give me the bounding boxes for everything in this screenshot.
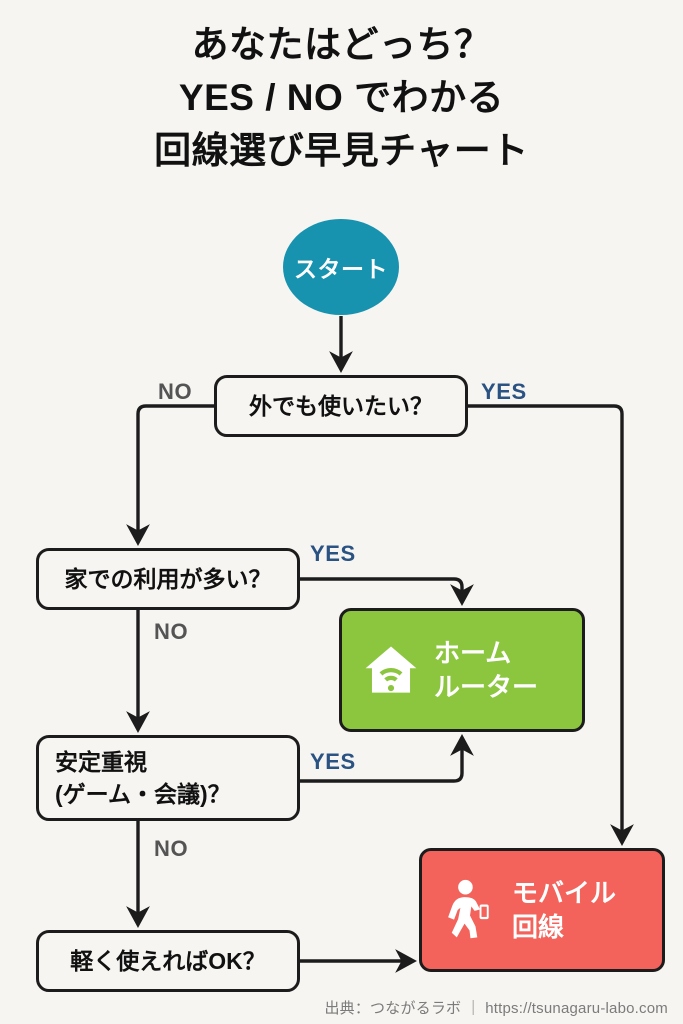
result-mobile-line-text: モバイル 回線: [512, 876, 616, 944]
branch-label-outdoor-no: NO: [158, 379, 192, 405]
decision-light-usage[interactable]: 軽く使えればOK？: [36, 930, 300, 992]
decision-stability-label-line-1: 安定重視: [55, 746, 285, 778]
decision-outdoor-label: 外でも使いたい？: [249, 390, 433, 422]
start-node-label: スタート: [294, 250, 388, 284]
decision-stability[interactable]: 安定重視 (ゲーム・会議)？: [36, 735, 300, 821]
decision-light-usage-label: 軽く使えればOK？: [70, 945, 266, 977]
result-home-router-line-2: ルーター: [434, 670, 538, 704]
result-home-router[interactable]: ホーム ルーター: [339, 608, 585, 732]
branch-label-stability-yes: YES: [310, 749, 356, 775]
branch-label-home-no: NO: [154, 619, 188, 645]
house-wifi-icon: [362, 641, 420, 699]
flowchart-poster: あなたはどっち？ YES / NO でわかる 回線選び早見チャート: [0, 0, 683, 1024]
result-home-router-text: ホーム ルーター: [434, 636, 538, 704]
result-mobile-line[interactable]: モバイル 回線: [419, 848, 665, 972]
branch-label-home-yes: YES: [310, 541, 356, 567]
edge-home-yes-to-router: [300, 579, 462, 602]
branch-label-stability-no: NO: [154, 836, 188, 862]
branch-label-outdoor-yes: YES: [481, 379, 527, 405]
walking-person-phone-icon: [442, 879, 498, 941]
start-node[interactable]: スタート: [283, 219, 399, 315]
decision-outdoor[interactable]: 外でも使いたい？: [214, 375, 468, 437]
result-home-router-line-1: ホーム: [434, 636, 538, 670]
decision-stability-label-line-2: (ゲーム・会議)？: [55, 778, 285, 810]
source-attribution: 出典：つながるラボ ｜ https://tsunagaru-labo.com: [0, 997, 668, 1018]
decision-home-usage-label: 家での利用が多い？: [65, 563, 272, 595]
edge-outdoor-no-to-home: [138, 406, 214, 542]
decision-home-usage[interactable]: 家での利用が多い？: [36, 548, 300, 610]
result-mobile-line-line-2: 回線: [512, 910, 616, 944]
result-mobile-line-line-1: モバイル: [512, 876, 616, 910]
